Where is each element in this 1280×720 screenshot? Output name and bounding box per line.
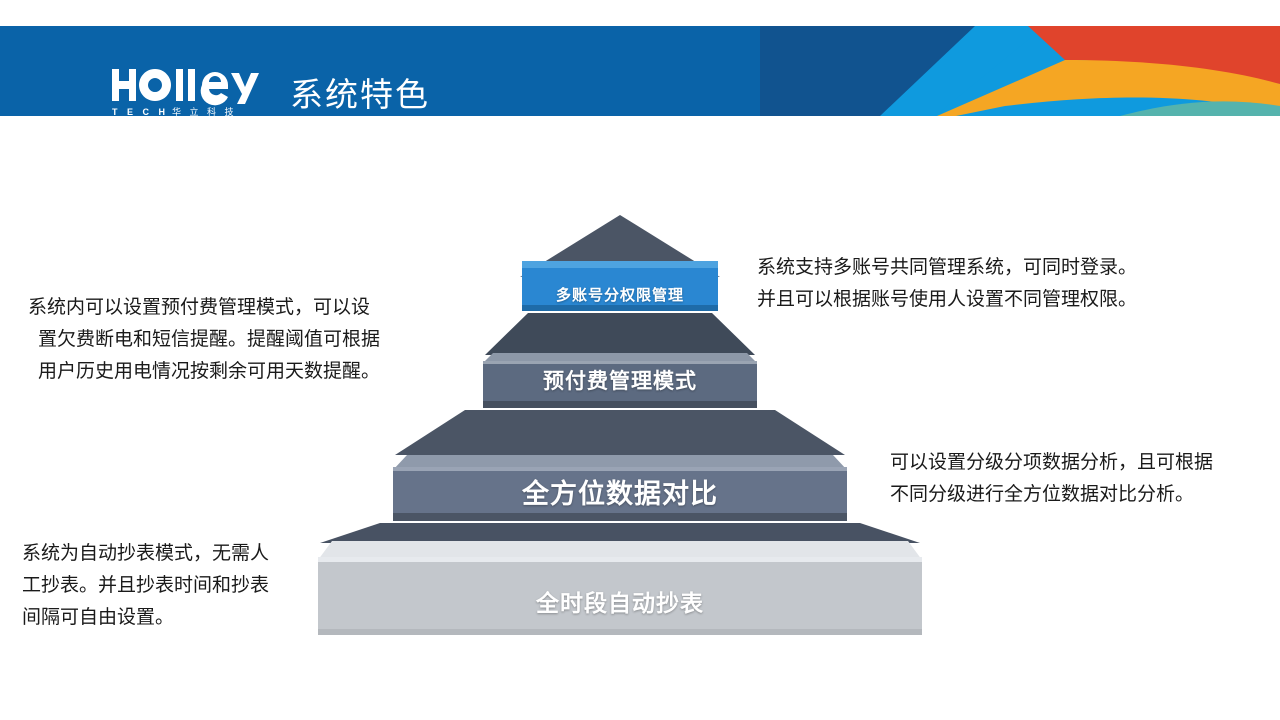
tier-label-data-compare: 全方位数据对比: [410, 472, 830, 511]
page-title: 系统特色: [290, 73, 430, 116]
callout-data-compare-description: 可以设置分级分项数据分析，且可根据 不同分级进行全方位数据对比分析。: [890, 447, 1280, 511]
callout-line: 并且可以根据账号使用人设置不同管理权限。: [757, 284, 1187, 316]
tier-label-auto-meter: 全时段自动抄表: [330, 584, 910, 618]
callout-line: 系统内可以设置预付费管理模式，可以设: [28, 292, 438, 324]
tier-label-multi-account: 多账号分权限管理: [520, 284, 720, 305]
callout-line: 工抄表。并且抄表时间和抄表: [22, 570, 322, 602]
callout-auto-meter-description: 系统为自动抄表模式，无需人 工抄表。并且抄表时间和抄表 间隔可自由设置。: [22, 538, 322, 634]
header-decoration-graphic: [760, 26, 1280, 116]
callout-line: 置欠费断电和短信提醒。提醒阈值可根据: [28, 324, 438, 356]
callout-multi-account-description: 系统支持多账号共同管理系统，可同时登录。 并且可以根据账号使用人设置不同管理权限…: [757, 252, 1187, 316]
callout-line: 可以设置分级分项数据分析，且可根据: [890, 447, 1280, 479]
holley-logo: T E C H 华 立 科 技: [110, 67, 260, 116]
callout-prepaid-description: 系统内可以设置预付费管理模式，可以设 置欠费断电和短信提醒。提醒阈值可根据 用户…: [28, 292, 438, 388]
callout-line: 系统支持多账号共同管理系统，可同时登录。: [757, 252, 1187, 284]
svg-text:T E C H: T E C H: [112, 107, 169, 116]
callout-line: 不同分级进行全方位数据对比分析。: [890, 479, 1280, 511]
header-band: T E C H 华 立 科 技 系统特色: [0, 26, 1280, 116]
slide-canvas: T E C H 华 立 科 技 系统特色: [0, 0, 1280, 720]
callout-line: 间隔可自由设置。: [22, 602, 322, 634]
svg-text:华 立 科 技: 华 立 科 技: [172, 106, 237, 116]
callout-line: 用户历史用电情况按剩余可用天数提醒。: [28, 356, 438, 388]
tier-label-prepaid: 预付费管理模式: [470, 365, 770, 395]
callout-line: 系统为自动抄表模式，无需人: [22, 538, 322, 570]
